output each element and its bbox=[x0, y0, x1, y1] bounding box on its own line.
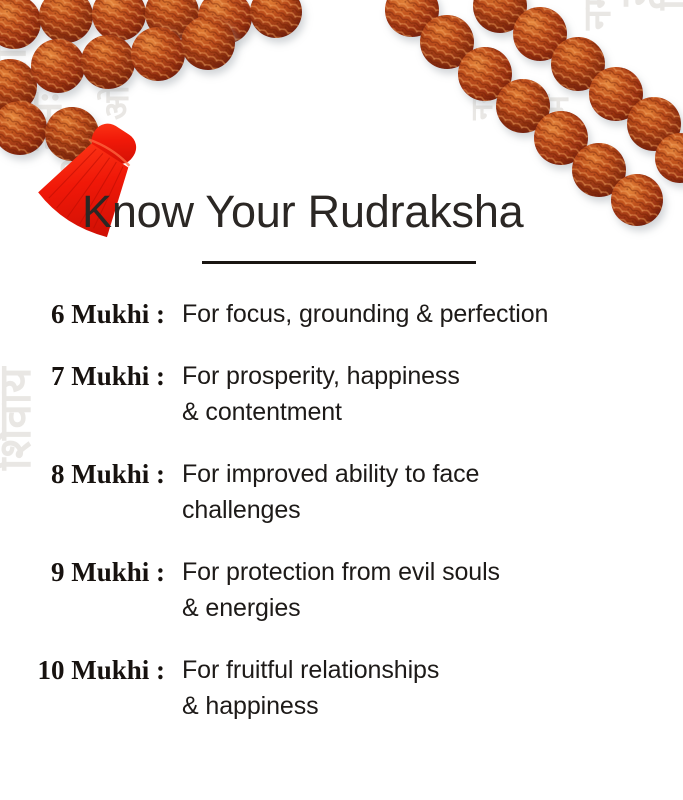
description-line: For protection from evil souls bbox=[182, 554, 683, 590]
list-item: 8 Mukhi : For improved ability to face c… bbox=[0, 456, 683, 528]
description-line: & contentment bbox=[182, 394, 683, 430]
mukhi-label: 6 Mukhi : bbox=[0, 296, 165, 330]
mukhi-label: 10 Mukhi : bbox=[0, 652, 165, 686]
description-line: For fruitful relationships bbox=[182, 652, 683, 688]
list-item: 7 Mukhi : For prosperity, happiness & co… bbox=[0, 358, 683, 430]
mukhi-description: For protection from evil souls & energie… bbox=[165, 554, 683, 626]
mukhi-label: 7 Mukhi : bbox=[0, 358, 165, 392]
description-line: For focus, grounding & perfection bbox=[182, 296, 683, 332]
list-item: 9 Mukhi : For protection from evil souls… bbox=[0, 554, 683, 626]
rudraksha-infographic-poster: शिवाय नमः ओम शिवाय ओम नमः शिवाय नमः शिवा… bbox=[0, 0, 683, 800]
description-line: For prosperity, happiness bbox=[182, 358, 683, 394]
description-line: & energies bbox=[182, 590, 683, 626]
mukhi-description: For focus, grounding & perfection bbox=[165, 296, 683, 332]
list-item: 10 Mukhi : For fruitful relationships & … bbox=[0, 652, 683, 724]
page-title: Know Your Rudraksha bbox=[82, 186, 524, 238]
mukhi-description: For prosperity, happiness & contentment bbox=[165, 358, 683, 430]
mukhi-list: 6 Mukhi : For focus, grounding & perfect… bbox=[0, 296, 683, 750]
description-line: For improved ability to face bbox=[182, 456, 683, 492]
description-line: challenges bbox=[182, 492, 683, 528]
mukhi-description: For improved ability to face challenges bbox=[165, 456, 683, 528]
mukhi-label: 8 Mukhi : bbox=[0, 456, 165, 490]
mukhi-description: For fruitful relationships & happiness bbox=[165, 652, 683, 724]
mukhi-label: 9 Mukhi : bbox=[0, 554, 165, 588]
description-line: & happiness bbox=[182, 688, 683, 724]
title-divider bbox=[202, 261, 476, 264]
list-item: 6 Mukhi : For focus, grounding & perfect… bbox=[0, 296, 683, 332]
